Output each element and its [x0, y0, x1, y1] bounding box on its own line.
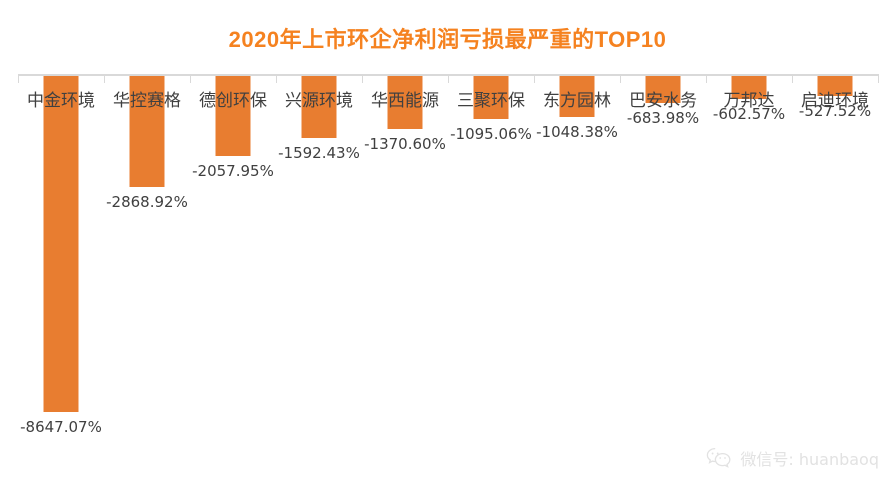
bar-slot [18, 76, 104, 434]
value-label: -602.57% [706, 105, 792, 123]
bar[interactable] [44, 76, 79, 412]
category-label: 三聚环保 [448, 86, 534, 111]
bar-slot [104, 76, 190, 434]
category-label: 华西能源 [362, 86, 448, 111]
category-label: 德创环保 [190, 86, 276, 111]
plot-area: 中金环境华控赛格德创环保兴源环境华西能源三聚环保东方园林巴安水务万邦达启迪环境 … [18, 74, 878, 434]
wechat-icon [706, 447, 732, 469]
category-label: 兴源环境 [276, 86, 362, 111]
value-label: -527.52% [792, 102, 878, 120]
watermark: 微信号: huanbaoq [706, 446, 879, 470]
value-label: -2057.95% [190, 162, 276, 180]
bar-slot [620, 76, 706, 434]
value-label: -8647.07% [18, 418, 104, 436]
category-label: 中金环境 [18, 86, 104, 111]
value-label: -2868.92% [104, 193, 190, 211]
value-label: -1095.06% [448, 125, 534, 143]
value-label: -1592.43% [276, 144, 362, 162]
watermark-text: 微信号: huanbaoq [740, 446, 879, 470]
value-label: -1048.38% [534, 123, 620, 141]
axis-tick [878, 74, 879, 83]
category-label: 巴安水务 [620, 86, 706, 111]
bar-slot [190, 76, 276, 434]
value-label: -1370.60% [362, 135, 448, 153]
bar-slot [276, 76, 362, 434]
bar-slot [792, 76, 878, 434]
chart-title: 2020年上市环企净利润亏损最严重的TOP10 [0, 22, 895, 54]
bar-slot [362, 76, 448, 434]
category-label: 东方园林 [534, 86, 620, 111]
chart-container: 2020年上市环企净利润亏损最严重的TOP10 中金环境华控赛格德创环保兴源环境… [0, 0, 895, 488]
value-label: -683.98% [620, 109, 706, 127]
category-label: 华控赛格 [104, 86, 190, 111]
bar-slot [706, 76, 792, 434]
